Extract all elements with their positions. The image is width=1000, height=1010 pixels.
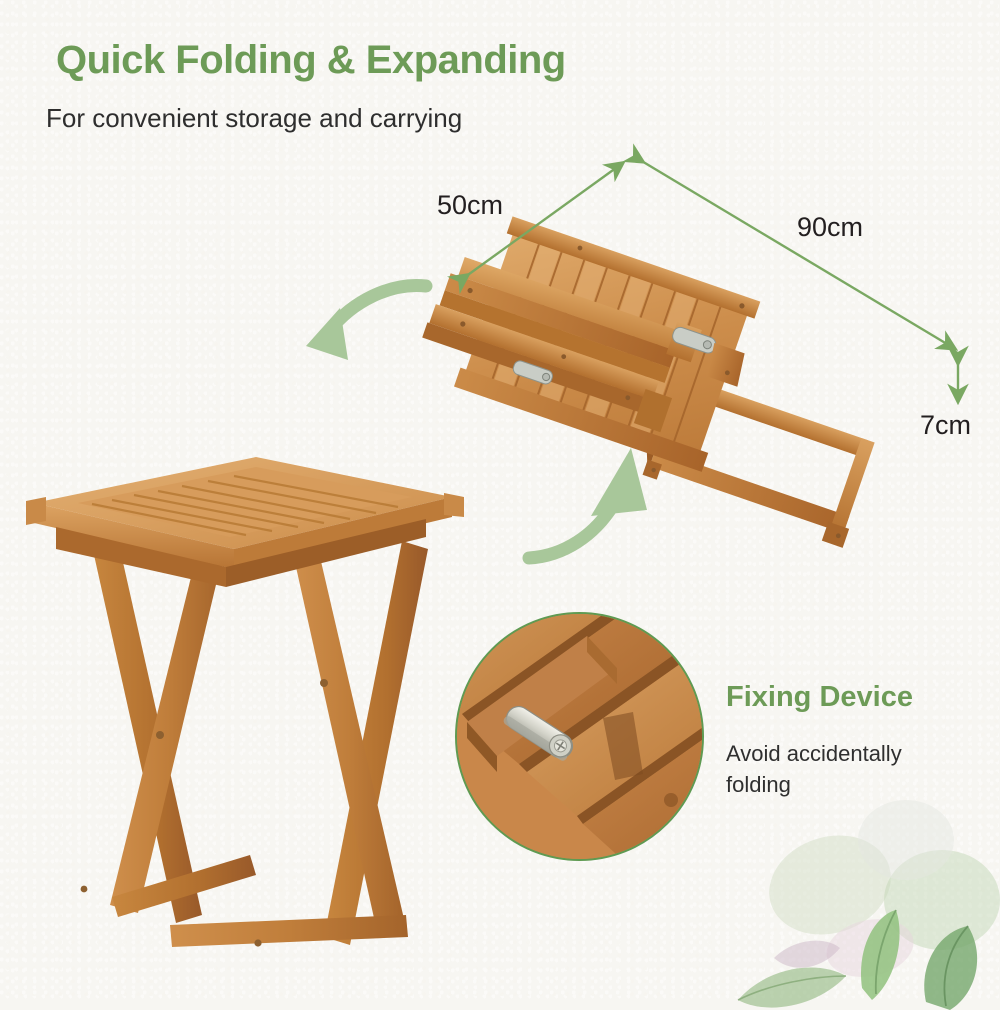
infographic-canvas: Quick Folding & Expanding For convenient… xyxy=(0,0,1000,1000)
fixing-device-description: Avoid accidentally folding xyxy=(726,738,966,800)
dimension-label-7: 7cm xyxy=(920,410,971,441)
page-subtitle: For convenient storage and carrying xyxy=(46,103,462,134)
page-title: Quick Folding & Expanding xyxy=(56,38,566,83)
table-legs xyxy=(81,531,428,947)
inset-screw-hole xyxy=(664,793,678,807)
fixing-device-title: Fixing Device xyxy=(726,681,913,714)
fold-arrow-icon xyxy=(290,268,430,383)
open-table-illustration xyxy=(20,445,470,975)
fixing-device-inset xyxy=(455,612,704,861)
expand-arrow-icon xyxy=(525,440,675,570)
foliage-decoration xyxy=(710,780,1000,1010)
dimension-label-50: 50cm xyxy=(437,190,503,221)
dimension-label-90: 90cm xyxy=(797,212,863,243)
